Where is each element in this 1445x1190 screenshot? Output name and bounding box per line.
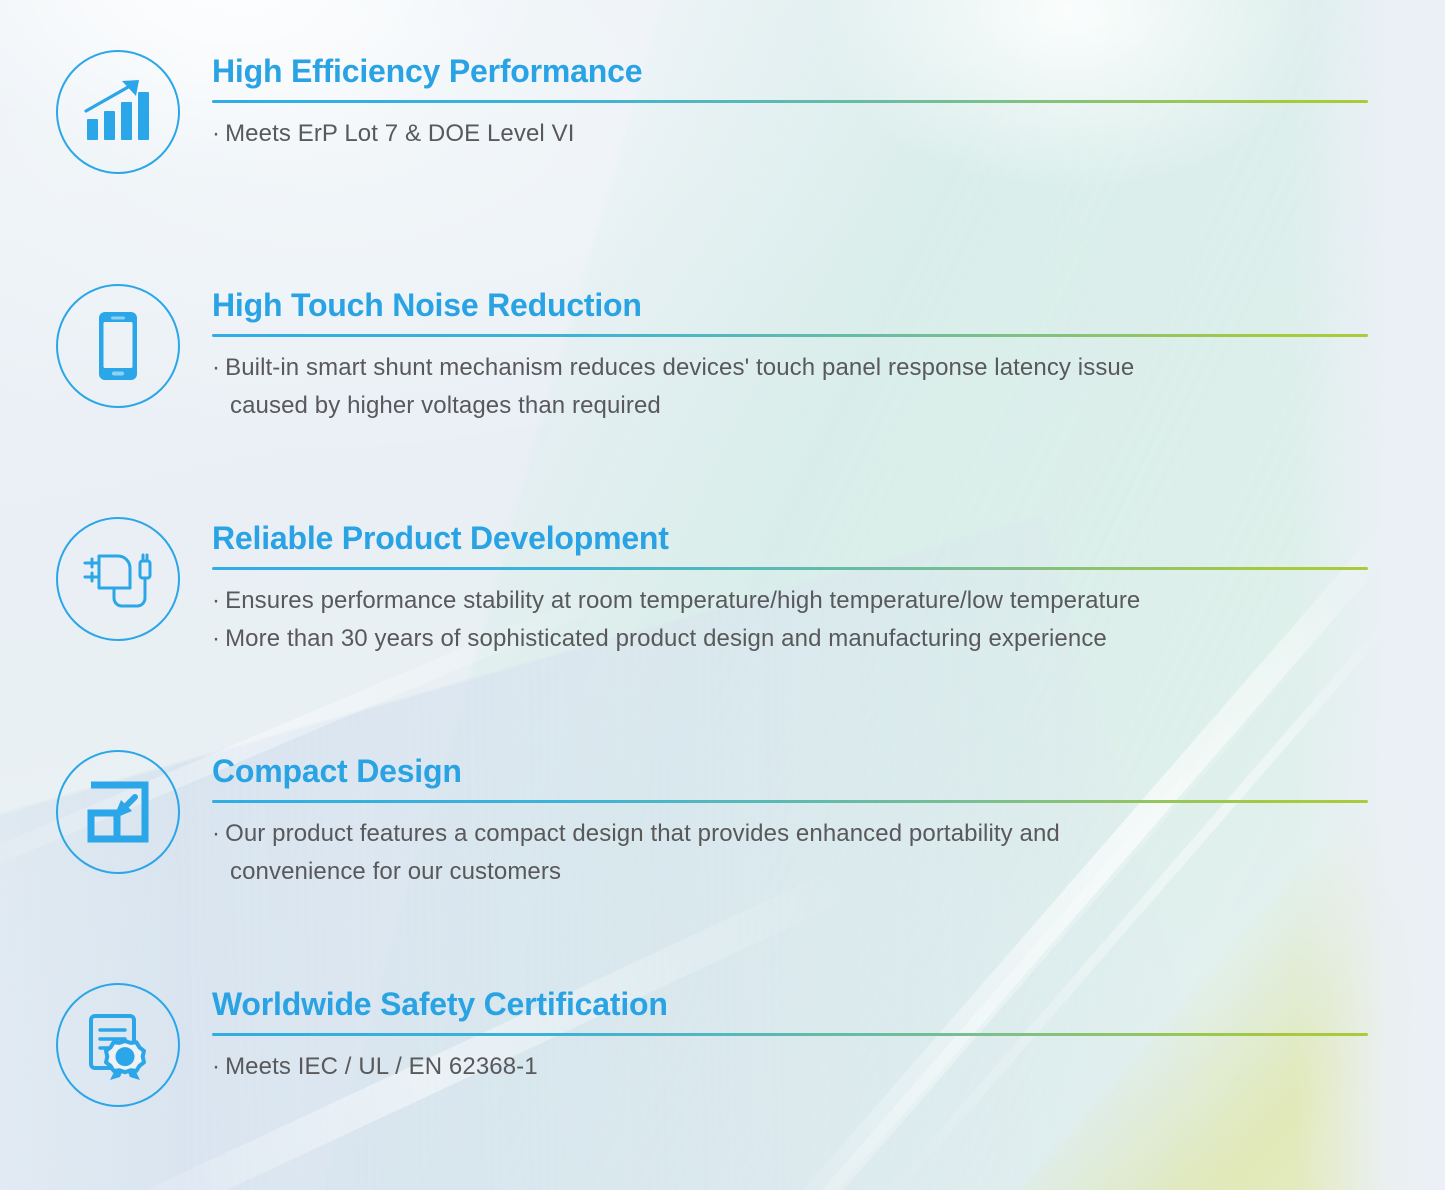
feature-divider	[212, 100, 1368, 103]
feature-line-text: Built-in smart shunt mechanism reduces d…	[225, 354, 1134, 381]
feature-line-text: Our product features a compact design th…	[225, 820, 1060, 847]
feature-body: Reliable Product Development ·Ensures pe…	[212, 522, 1368, 658]
bullet-icon: ·	[212, 820, 220, 847]
feature-line-text: Ensures performance stability at room te…	[225, 587, 1140, 614]
feature-body: Compact Design ·Our product features a c…	[212, 755, 1368, 891]
feature-body: Worldwide Safety Certification ·Meets IE…	[212, 988, 1368, 1086]
feature-line: ·Ensures performance stability at room t…	[212, 582, 1368, 620]
feature-title: High Efficiency Performance	[212, 55, 1368, 89]
feature-lines: ·Built-in smart shunt mechanism reduces …	[212, 349, 1368, 426]
feature-body: High Efficiency Performance ·Meets ErP L…	[212, 55, 1368, 153]
bullet-icon: ·	[212, 1053, 220, 1080]
feature-lines: ·Meets IEC / UL / EN 62368-1	[212, 1048, 1368, 1086]
feature-divider	[212, 334, 1368, 337]
feature-lines: ·Our product features a compact design t…	[212, 815, 1368, 892]
shrink-resize-icon	[56, 750, 180, 874]
feature-line-text: Meets ErP Lot 7 & DOE Level VI	[225, 120, 574, 147]
feature-line-text: convenience for our customers	[212, 853, 1368, 891]
feature-line: ·Meets IEC / UL / EN 62368-1	[212, 1048, 1368, 1086]
certificate-award-icon	[56, 983, 180, 1107]
feature-body: High Touch Noise Reduction ·Built-in sma…	[212, 289, 1368, 425]
feature-divider	[212, 800, 1368, 803]
feature-line-text: More than 30 years of sophisticated prod…	[225, 625, 1107, 652]
feature-line: convenience for our customers	[212, 853, 1368, 891]
feature-divider	[212, 1033, 1368, 1036]
feature-line-text: caused by higher voltages than required	[212, 387, 1368, 425]
feature-title: Worldwide Safety Certification	[212, 988, 1368, 1022]
bullet-icon: ·	[212, 625, 220, 652]
feature-lines: ·Meets ErP Lot 7 & DOE Level VI	[212, 115, 1368, 153]
power-adapter-icon	[56, 517, 180, 641]
bullet-icon: ·	[212, 587, 220, 614]
smartphone-icon	[56, 284, 180, 408]
feature-line: ·Our product features a compact design t…	[212, 815, 1368, 853]
feature-title: Reliable Product Development	[212, 522, 1368, 556]
feature-line: ·Meets ErP Lot 7 & DOE Level VI	[212, 115, 1368, 153]
feature-list: High Efficiency Performance ·Meets ErP L…	[0, 0, 1445, 1190]
bullet-icon: ·	[212, 120, 220, 147]
feature-title: Compact Design	[212, 755, 1368, 789]
feature-divider	[212, 567, 1368, 570]
feature-line-text: Meets IEC / UL / EN 62368-1	[225, 1053, 538, 1080]
bullet-icon: ·	[212, 354, 220, 381]
feature-lines: ·Ensures performance stability at room t…	[212, 582, 1368, 659]
feature-line: caused by higher voltages than required	[212, 387, 1368, 425]
feature-line: ·More than 30 years of sophisticated pro…	[212, 620, 1368, 658]
bar-chart-growth-icon	[56, 50, 180, 174]
feature-title: High Touch Noise Reduction	[212, 289, 1368, 323]
feature-line: ·Built-in smart shunt mechanism reduces …	[212, 349, 1368, 387]
